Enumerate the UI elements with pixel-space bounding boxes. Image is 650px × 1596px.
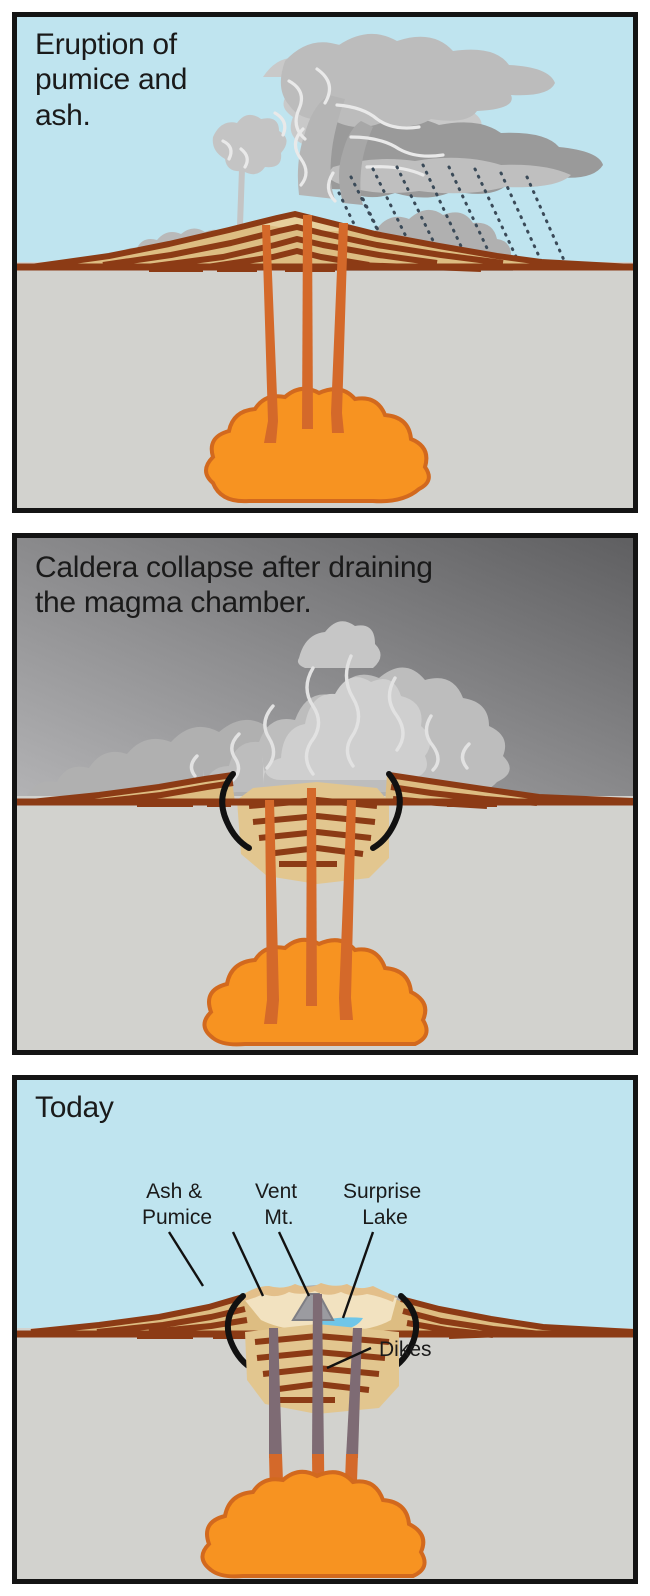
panel-today: Ash & Pumice Vent Mt. Surprise Lake Dike… <box>12 1075 638 1584</box>
conduit-center <box>306 788 317 1006</box>
panel-3-illustration: Ash & Pumice Vent Mt. Surprise Lake Dike… <box>17 1080 633 1579</box>
conduit-center <box>302 215 313 429</box>
label-surprise-lake-line2: Lake <box>362 1206 408 1229</box>
label-ash-pumice-line2: Pumice <box>142 1206 212 1229</box>
label-vent-mt-line2: Mt. <box>264 1206 293 1229</box>
panel-collapse: Caldera collapse after draining the magm… <box>12 533 638 1055</box>
label-dikes: Dikes <box>379 1338 432 1361</box>
panel-1-illustration <box>17 17 633 508</box>
dike-center-upper <box>312 1294 324 1458</box>
label-ash-pumice-line1: Ash & <box>146 1180 202 1203</box>
label-vent-mt-line1: Vent <box>255 1180 297 1203</box>
label-surprise-lake-line1: Surprise <box>343 1180 421 1203</box>
panel-2-illustration <box>17 538 633 1050</box>
panel-eruption: Eruption of pumice and ash. <box>12 12 638 513</box>
